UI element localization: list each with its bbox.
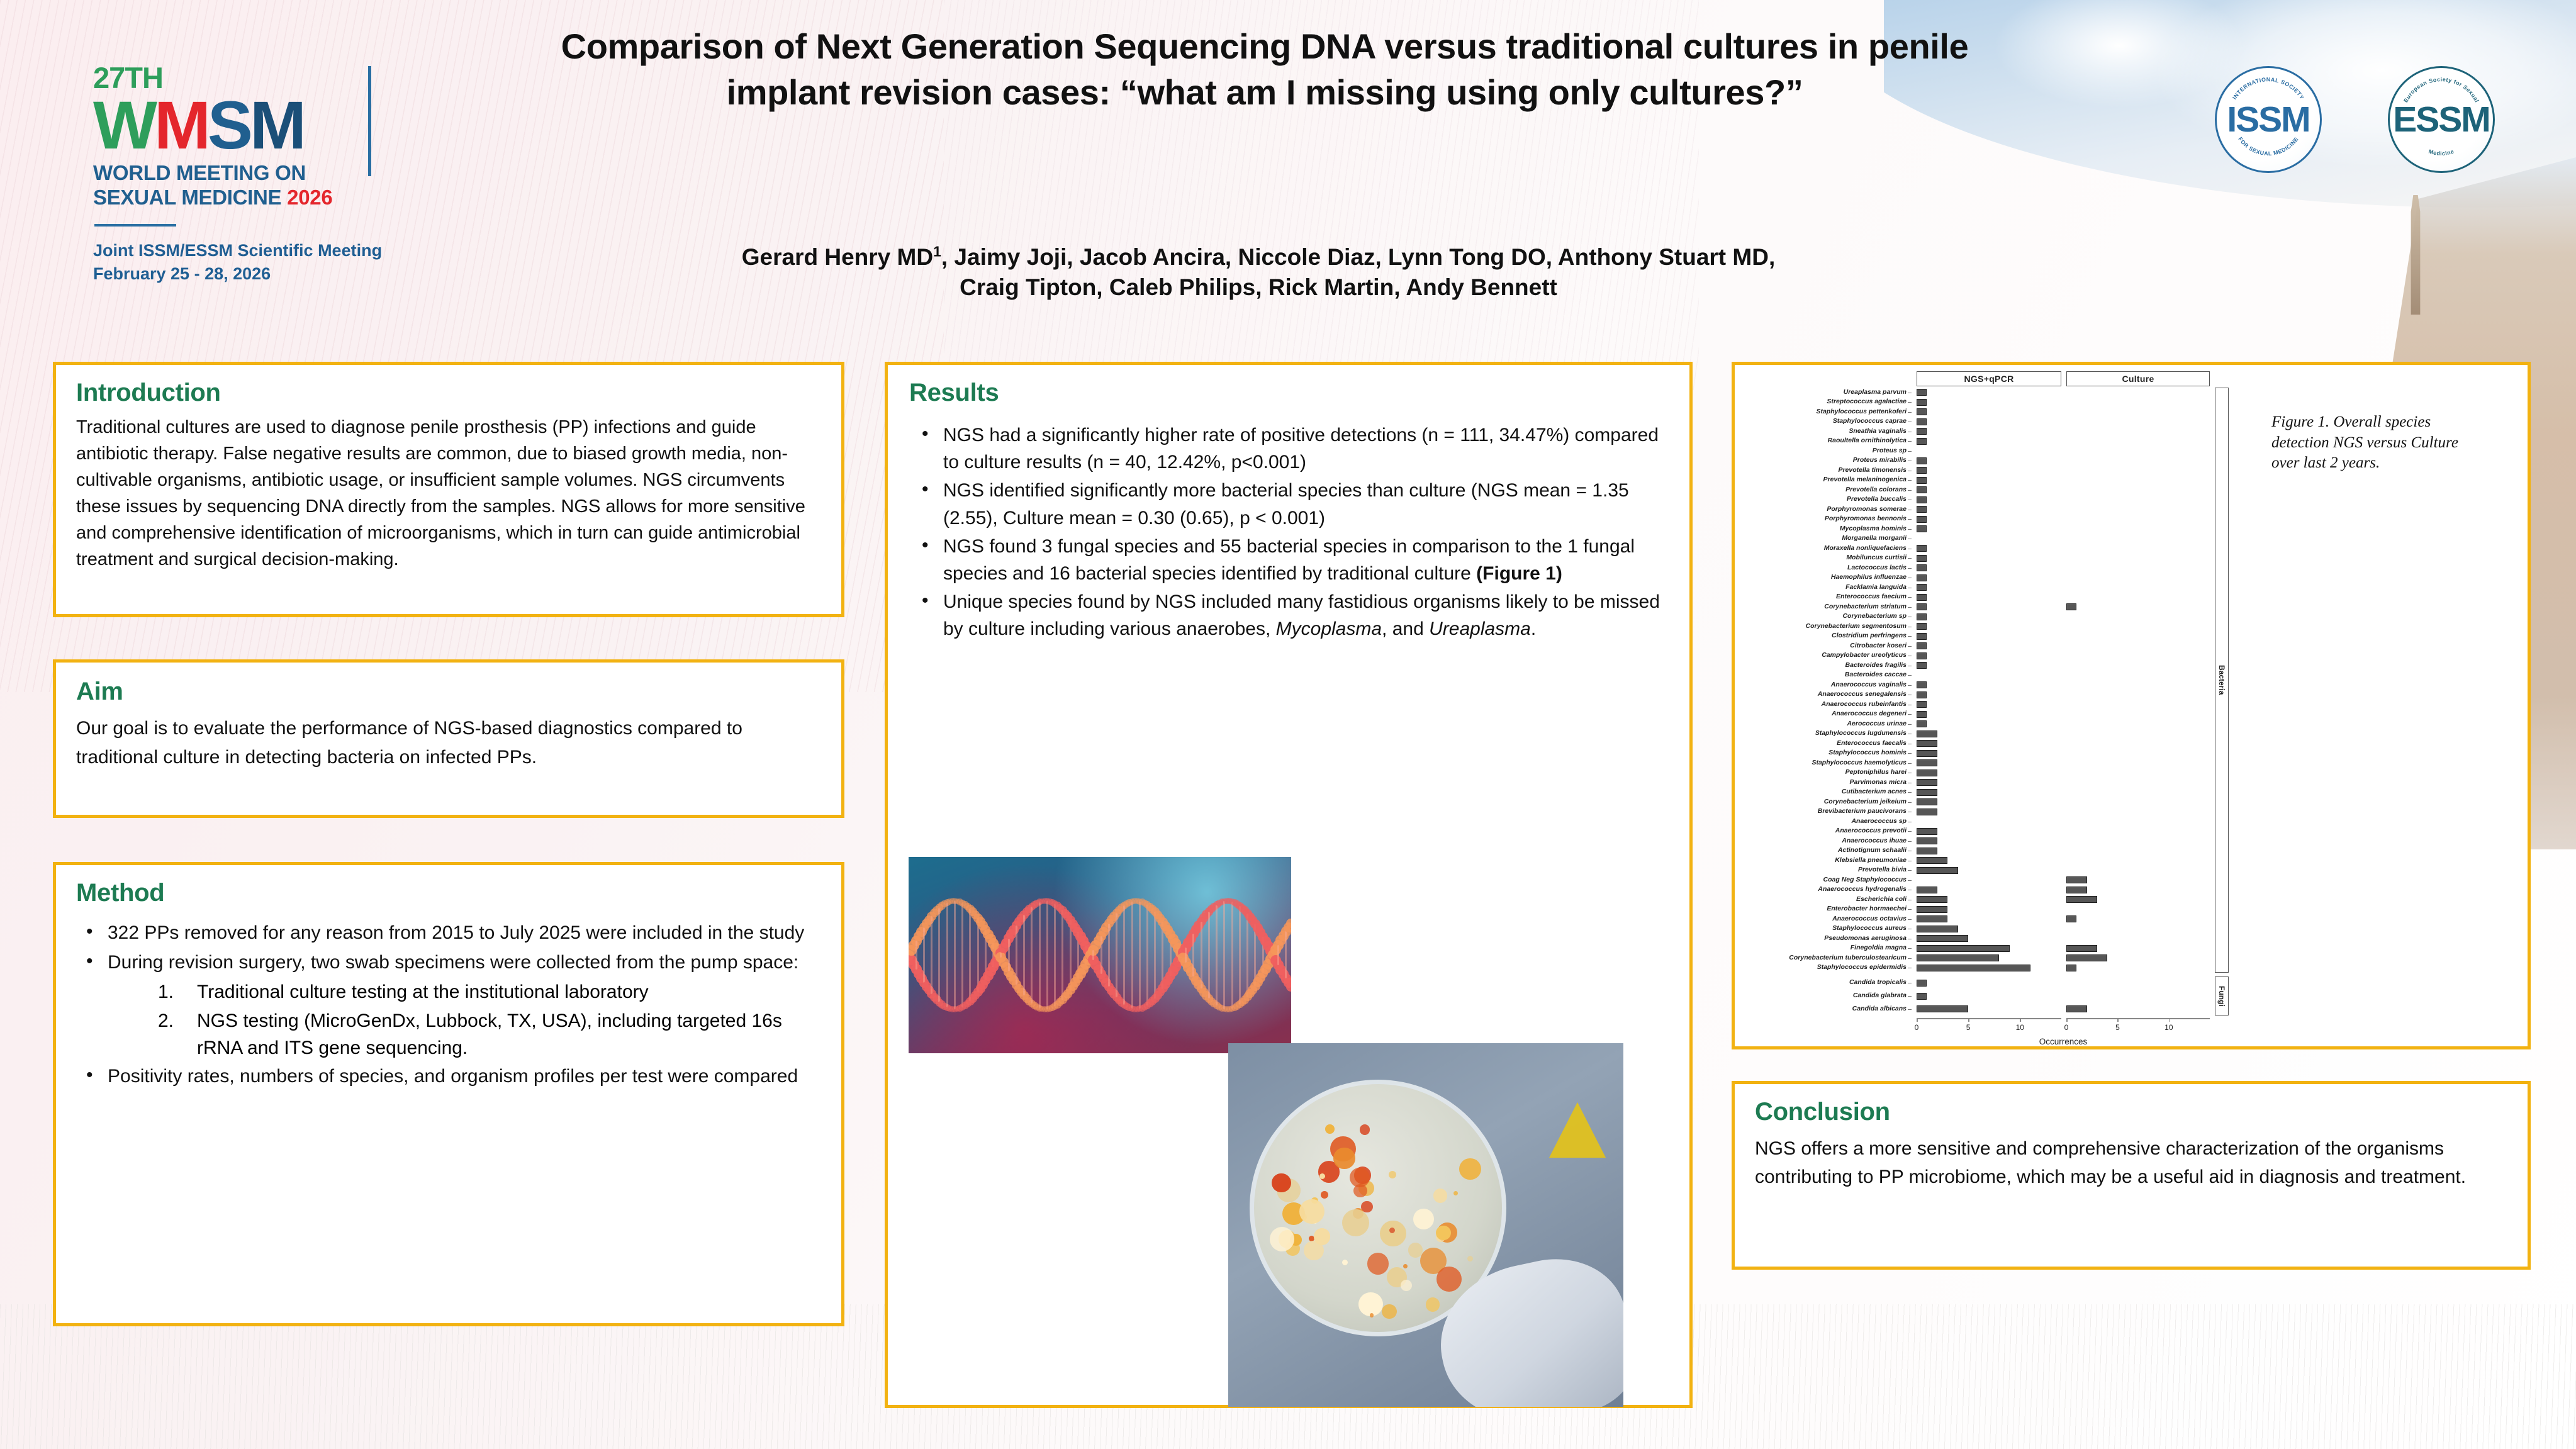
chart-bar [1917,740,1937,747]
chart-category-label: Staphylococcus epidermidis [1744,964,1907,971]
chart-category-label: Corynebacterium tuberculostearicum [1744,954,1907,961]
logo-year: 2026 [287,186,332,209]
chart-category-label: Finegoldia magna [1744,944,1907,951]
chart-tick-dash [1908,636,1912,637]
results-bullet-2: NGS identified significantly more bacter… [910,477,1662,531]
chart-tick-dash [1908,744,1912,744]
chart-bar [1917,652,1927,659]
dna-base-pair [931,916,932,993]
method-section: Method 322 PPs removed for any reason fr… [53,862,844,1326]
chart-bar [1917,613,1927,620]
chart-tick-dash [1908,402,1912,403]
results-bullet-3: NGS found 3 fungal species and 55 bacter… [910,533,1662,587]
bacterial-colony [1408,1243,1423,1257]
chart-bar [1917,691,1927,698]
chart-tick-dash [1908,1009,1912,1010]
essm-ring-bottom-text: Medicine [2428,148,2455,156]
chart-tick-dash [1908,432,1912,432]
bacterial-colony [1401,1280,1412,1291]
chart-tick-dash [1908,714,1912,715]
issm-ring-bottom-text: FOR SEXUAL MEDICINE [2237,136,2299,157]
wmsm-logo: 27TH WMSM WORLD MEETING ON SEXUAL MEDICI… [93,63,458,285]
chart-bar [1917,935,1968,942]
method-numbered-list: 1. Traditional culture testing at the in… [158,978,827,1061]
chart-category-label: Staphylococcus lugdunensis [1744,730,1907,737]
logo-subtitle-line2: SEXUAL MEDICINE [93,186,281,209]
aim-text: Our goal is to evaluate the performance … [76,714,825,771]
chart-panel-header-culture: Culture [2066,371,2210,386]
chart-tick-dash [1908,996,1912,997]
chart-x-tick [2117,1018,2119,1022]
method-numbered-text-2: NGS testing (MicroGenDx, Lubbock, TX, US… [197,1010,782,1058]
dna-base-pair [1154,912,1156,998]
results-organism-mycoplasma: Mycoplasma [1276,618,1382,639]
chart-category-label: Anaerococcus rubeinfantis [1744,701,1907,708]
introduction-section: Introduction Traditional cultures are us… [53,362,844,617]
bacterial-colony [1342,1260,1348,1265]
dna-base-pair [1285,931,1287,978]
author-first: Gerard Henry MD [742,244,933,270]
dna-base-pair [1246,914,1248,997]
method-number-1: 1. [158,978,174,1005]
chart-tick-dash [1908,812,1912,812]
chart-category-label: Prevotella bivia [1744,866,1907,873]
dna-base-pair [1146,905,1148,1005]
results-bullet-4-end: . [1531,618,1536,639]
bacterial-colony [1342,1209,1369,1236]
chart-tick-dash [1908,607,1912,608]
essm-ring-text: European Society for Sexual Medicine [2390,68,2493,171]
chart-bar [1917,759,1937,766]
dna-base-pair [1185,948,1187,963]
logo-vertical-rule [368,66,371,176]
chart-bar [2066,603,2076,610]
chart-category-label: Prevotella colorans [1744,486,1907,493]
chart-category-label: Anaerococcus senegalensis [1744,691,1907,698]
dna-base-pair [1123,905,1125,1004]
chart-plot-culture [2066,388,2210,1015]
chart-x-tick [1917,1018,1918,1022]
chart-bar [1917,915,1947,922]
chart-category-label: Klebsiella pneumoniae [1744,857,1907,864]
chart-bar [1917,1005,1968,1012]
chart-x-tick-label: 5 [2115,1023,2120,1032]
author-list: Gerard Henry MD1, Jaimy Joji, Jacob Anci… [711,242,1806,303]
dna-base-pair [1046,901,1048,1009]
chart-tick-dash [1908,802,1912,803]
chart-tick-dash [1908,558,1912,559]
dna-base-pair [1192,934,1194,976]
results-figure-reference: (Figure 1) [1476,563,1562,584]
dna-base-pair [1061,910,1063,1000]
chart-bar [2066,1005,2087,1012]
chart-category-label: Cutibacterium acnes [1744,788,1907,795]
chart-bar [2066,915,2076,922]
bacterial-colony [1467,1256,1473,1262]
dna-base-pair [916,941,917,969]
petri-dish-culture-photo [1228,1043,1623,1407]
chart-plot-ngs [1917,388,2061,1015]
species-detection-chart: NGS+qPCR Culture Bacteria Fungi Ureaplas… [1742,371,2258,1041]
chart-group-label-fungi: Fungi [2217,986,2226,1007]
chart-tick-dash [1908,890,1912,890]
chart-bar [1917,633,1927,640]
chart-x-tick-label: 0 [1915,1023,1919,1032]
chart-category-label: Proteus mirabilis [1744,457,1907,464]
meeting-name: Joint ISSM/ESSM Scientific Meeting [93,241,382,260]
chart-bar [1917,525,1927,532]
chart-bar [1917,555,1927,562]
chart-x-tick [2020,1018,2021,1022]
chart-category-label: Clostridium perfringens [1744,632,1907,639]
method-bullet-3: Positivity rates, numbers of species, an… [75,1063,827,1090]
chart-bar [1917,477,1927,484]
logo-letter-m1: M [154,87,208,163]
results-bullet-list: NGS had a significantly higher rate of p… [910,422,1662,644]
chart-x-axis-line [2066,1018,2210,1019]
bacterial-colony [1314,1228,1331,1245]
chart-bar [1917,516,1927,523]
dna-base-pair [1016,926,1017,985]
chart-category-label: Staphylococcus caprae [1744,418,1907,425]
logo-meeting-info: Joint ISSM/ESSM Scientific Meeting Febru… [93,239,458,285]
bacterial-colony [1333,1148,1355,1170]
logo-subtitle-line1: WORLD MEETING ON [93,161,306,184]
introduction-text: Traditional cultures are used to diagnos… [76,414,825,573]
issm-ring-text: INTERNATIONAL SOCIETY FOR SEXUAL MEDICIN… [2217,68,2320,171]
figure-caption: Figure 1. Overall species detection NGS … [2271,412,2460,474]
chart-bar [1917,467,1927,474]
issm-ring-top-text: INTERNATIONAL SOCIETY [2231,76,2305,101]
chart-category-label: Corynebacterium sp [1744,613,1907,620]
chart-bar [1917,486,1927,493]
chart-x-tick [2169,1018,2170,1022]
chart-tick-dash [1908,588,1912,588]
chart-category-label: Anaerococcus vaginalis [1744,681,1907,688]
chart-bar [1917,720,1927,727]
chart-bar [1917,545,1927,552]
chart-bar [1917,750,1937,757]
chart-category-label: Anaerococcus octavius [1744,915,1907,922]
chart-category-label: Morganella morganii [1744,535,1907,542]
method-numbered-item-2: 2. NGS testing (MicroGenDx, Lubbock, TX,… [158,1007,827,1061]
chart-category-label: Anaerococcus ihuae [1744,837,1907,844]
logo-divider-rule [94,224,176,227]
chart-category-label: Enterococcus faecium [1744,593,1907,600]
bacterial-colony [1433,1189,1448,1203]
bacterial-colony [1459,1158,1481,1180]
chart-category-label: Staphylococcus aureus [1744,925,1907,932]
chart-bar [1917,798,1937,805]
chart-category-label: Mobiluncus curtisii [1744,554,1907,561]
bacterial-colony [1389,1171,1396,1178]
chart-tick-dash [1908,539,1912,539]
chart-bar [1917,584,1927,591]
chart-category-label: Candida glabrata [1744,992,1907,999]
chart-tick-dash [1908,578,1912,578]
chart-category-label: Anaerococcus prevotii [1744,827,1907,834]
chart-category-label: Candida tropicalis [1744,979,1907,986]
chart-bar [2066,876,2087,883]
chart-bar [1917,896,1947,903]
chart-tick-dash [1908,510,1912,510]
chart-category-label: Parvimonas micra [1744,779,1907,786]
chart-bar [1917,711,1927,718]
chart-bar [1917,496,1927,503]
dna-base-pair [1108,924,1110,987]
bacterial-colony [1360,1124,1370,1134]
logo-acronym: WMSM [93,94,458,156]
chart-tick-dash [1908,724,1912,725]
results-title: Results [909,379,999,407]
chart-tick-dash [1908,597,1912,598]
chart-category-label: Porphyromonas somerae [1744,506,1907,513]
chart-category-label: Corynebacterium jeikeium [1744,798,1907,805]
chart-bar [1917,906,1947,913]
chart-x-tick-label: 10 [2016,1023,2024,1032]
bacterial-colony [1436,1226,1451,1241]
chart-tick-dash [1908,441,1912,442]
chart-bar [1917,993,1927,1000]
chart-bar [2066,887,2087,893]
chart-tick-dash [1908,646,1912,647]
chart-bar [1917,642,1927,649]
chart-x-tick [1968,1018,1969,1022]
chart-bar [1917,980,1927,987]
chart-category-label: Facklamia languida [1744,584,1907,591]
chart-category-label: Enterobacter hormaechei [1744,905,1907,912]
bacterial-colony [1272,1173,1291,1192]
meeting-dates: February 25 - 28, 2026 [93,264,271,283]
method-bullet-1: 322 PPs removed for any reason from 2015… [75,919,827,946]
chart-bar [1917,389,1927,396]
chart-bar [1917,848,1937,854]
chart-tick-dash [1908,393,1912,393]
chart-category-label: Streptococcus agalactiae [1744,398,1907,405]
results-bullet-4-conj: , and [1382,618,1429,639]
chart-tick-dash [1908,939,1912,939]
biohazard-sign-icon [1547,1100,1608,1161]
chart-x-tick-label: 5 [1966,1023,1971,1032]
chart-tick-dash [1908,451,1912,452]
method-numbered-item-1: 1. Traditional culture testing at the in… [158,978,827,1005]
chart-category-label: Anaerococcus hydrogenalis [1744,886,1907,893]
chart-bar [1917,506,1927,513]
aim-title: Aim [76,678,123,706]
chart-tick-dash [1908,471,1912,471]
chart-tick-dash [1908,519,1912,520]
chart-category-label: Bacteroides fragilis [1744,662,1907,669]
bacterial-colony [1453,1191,1458,1195]
bacterial-colony [1367,1253,1389,1274]
dna-base-pair [1201,922,1202,989]
dna-base-pair [1054,904,1056,1006]
chart-bar [1917,837,1937,844]
bacterial-colony [1382,1304,1397,1319]
chart-tick-dash [1908,861,1912,861]
chart-category-label: Corynebacterium striatum [1744,603,1907,610]
dna-double-helix-photo [909,857,1291,1053]
chart-category-label: Prevotella melaninogenica [1744,476,1907,483]
chart-bar [1917,681,1927,688]
chart-tick-dash [1908,783,1912,783]
chart-tick-dash [1908,617,1912,617]
chart-bar [1917,594,1927,601]
chart-bar [1917,399,1927,406]
chart-tick-dash [1908,870,1912,871]
chart-bar [1917,603,1927,610]
chart-category-label: Anaerococcus degeneri [1744,710,1907,717]
chart-tick-dash [1908,422,1912,422]
chart-tick-dash [1908,948,1912,949]
chart-tick-dash [1908,909,1912,910]
chart-bar [1917,857,1947,864]
bacterial-colony [1380,1221,1406,1247]
results-bullet-1: NGS had a significantly higher rate of p… [910,422,1662,476]
chart-bar [1917,564,1927,571]
chart-tick-dash [1908,958,1912,959]
dna-base-pair [954,901,956,1009]
chart-bar [2066,954,2107,961]
chart-tick-dash [1908,792,1912,793]
chart-tick-dash [1908,822,1912,822]
chart-category-label: Coag Neg Staphylococcus [1744,876,1907,883]
chart-category-label: Aerococcus urinae [1744,720,1907,727]
chart-bar [1917,779,1937,786]
chart-tick-dash [1908,412,1912,413]
logo-subtitle: WORLD MEETING ON SEXUAL MEDICINE 2026 [93,161,458,210]
chart-category-label: Ureaplasma parvum [1744,389,1907,396]
chart-category-label: Staphylococcus haemolyticus [1744,759,1907,766]
dna-base-pair [1039,902,1041,1009]
dna-base-pair [1031,907,1033,1004]
chart-category-label: Lactococcus lactis [1744,564,1907,571]
chart-tick-dash [1908,773,1912,773]
chart-category-label: Staphylococcus hominis [1744,749,1907,756]
chart-bar [1917,438,1927,445]
chart-bar [1917,428,1927,435]
dna-base-pair [1131,902,1133,1009]
chart-tick-dash [1908,529,1912,530]
chart-group-strip-fungi: Fungi [2215,976,2229,1015]
chart-category-label: Prevotella buccalis [1744,496,1907,503]
chart-category-label: Raoultella ornithinolytica [1744,437,1907,444]
aim-section: Aim Our goal is to evaluate the performa… [53,659,844,818]
chart-panel-header-ngs: NGS+qPCR [1917,371,2061,386]
chart-tick-dash [1908,929,1912,929]
chart-category-label: Pseudomonas aeruginosa [1744,935,1907,942]
chart-category-label: Prevotella timonensis [1744,467,1907,474]
chart-tick-dash [1908,568,1912,569]
bacterial-colony [1325,1124,1335,1134]
chart-category-label: Porphyromonas bennonis [1744,515,1907,522]
chart-bar [1917,887,1937,893]
conclusion-title: Conclusion [1755,1098,1890,1126]
chart-bar [1917,574,1927,581]
dna-base-pair [1092,950,1094,960]
logo-letter-w: W [93,87,154,163]
logo-letter-m2: M [250,87,303,163]
dna-base-pair [1139,902,1141,1009]
chart-bar [2066,945,2097,952]
chart-x-tick [2066,1018,2068,1022]
chart-x-axis-line [1917,1018,2061,1019]
introduction-title: Introduction [76,379,221,407]
bacterial-colony [1321,1191,1328,1199]
chart-category-label: Citrobacter koseri [1744,642,1907,649]
chart-bar [1917,457,1927,464]
chart-tick-dash [1908,549,1912,549]
chart-category-label: Proteus sp [1744,447,1907,454]
bacterial-colony [1370,1313,1374,1317]
chart-tick-dash [1908,900,1912,900]
chart-category-label: Mycoplasma hominis [1744,525,1907,532]
chart-tick-dash [1908,490,1912,491]
dna-base-pair [1008,939,1010,972]
chart-tick-dash [1908,695,1912,695]
dna-base-pair [961,904,963,1007]
dna-base-pair [1100,936,1102,974]
chart-bar [1917,789,1937,796]
bacterial-colony [1436,1267,1462,1292]
dna-base-pair [1239,906,1241,1004]
chart-bar [1917,418,1927,425]
chart-category-label: Sneathia vaginalis [1744,428,1907,435]
method-number-2: 2. [158,1007,174,1034]
chart-category-label: Anaerococcus sp [1744,818,1907,825]
conclusion-text: NGS offers a more sensitive and comprehe… [1755,1134,2510,1191]
method-bullet-2: During revision surgery, two swab specim… [75,949,827,976]
chart-tick-dash [1908,983,1912,983]
dna-base-pair [969,909,971,1001]
chart-bar [1917,945,2010,952]
chart-bar [1917,662,1927,669]
chart-tick-dash [1908,763,1912,764]
chart-bar [1917,954,1999,961]
results-bullet-4: Unique species found by NGS included man… [910,588,1662,642]
chart-tick-dash [1908,656,1912,656]
chart-x-tick-label: 0 [2064,1023,2069,1032]
dna-base-pair [946,903,948,1008]
chart-category-label: Candida albicans [1744,1005,1907,1012]
chart-tick-dash [1908,880,1912,881]
chart-tick-dash [1908,753,1912,754]
chart-category-labels: Ureaplasma parvumStreptococcus agalactia… [1742,388,1907,1017]
bacterial-colony [1299,1199,1324,1224]
dna-strand-node [1286,982,1291,992]
chart-x-tick-label: 10 [2164,1023,2173,1032]
dna-base-pair [1116,913,1117,997]
author-affiliation-marker: 1 [933,243,941,260]
author-rest-line1: , Jaimy Joji, Jacob Ancira, Niccole Diaz… [941,244,1652,270]
results-organism-ureaplasma: Ureaplasma [1429,618,1531,639]
dna-base-pair [1277,945,1279,965]
dna-base-pair [923,927,925,982]
chart-bar [1917,926,1958,932]
chart-bar [1917,730,1937,737]
chart-bar [1917,701,1927,708]
chart-tick-dash [1908,685,1912,686]
chart-tick-dash [1908,500,1912,500]
page-title: Comparison of Next Generation Sequencing… [541,24,1988,116]
dna-base-pair [1216,905,1218,1005]
chart-tick-dash [1908,968,1912,968]
essm-logo: European Society for Sexual Medicine ESS… [2388,66,2495,173]
chart-tick-dash [1908,831,1912,832]
chart-bar [1917,808,1937,815]
essm-ring-top-text: European Society for Sexual [2402,76,2480,103]
chart-group-strip-bacteria: Bacteria [2215,388,2229,973]
